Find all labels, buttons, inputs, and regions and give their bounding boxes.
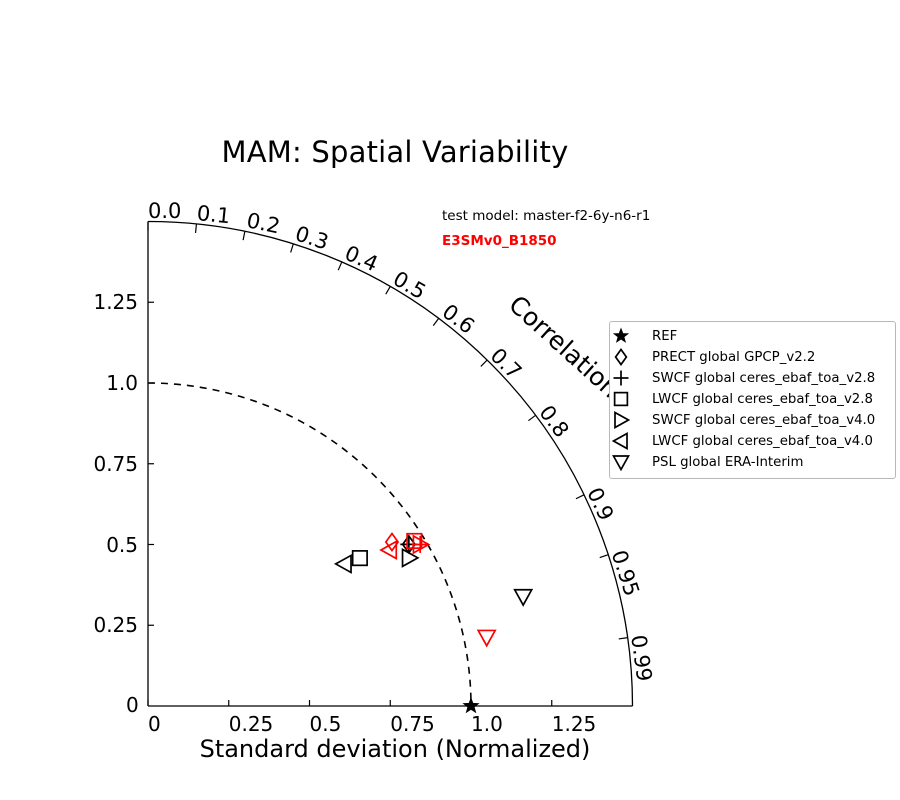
square-marker	[615, 393, 628, 406]
outer-arc	[148, 222, 633, 707]
legend-box[interactable]: REFPRECT global GPCP_v2.2SWCF global cer…	[609, 321, 896, 479]
correlation-tick	[243, 231, 245, 240]
legend-item[interactable]: LWCF global ceres_ebaf_toa_v4.0	[610, 431, 895, 452]
origin-tick-label: 0	[126, 693, 139, 717]
correlation-tick-label: 0.1	[196, 201, 232, 228]
star-marker	[614, 329, 628, 342]
plus-marker	[614, 371, 629, 386]
data-point-triangle-left-marker	[336, 555, 351, 572]
legend-item[interactable]: PSL global ERA-Interim	[610, 452, 895, 473]
triangle-right-marker	[615, 413, 629, 428]
reference-point-star-marker	[464, 698, 478, 712]
legend-item[interactable]: PRECT global GPCP_v2.2	[610, 347, 895, 368]
legend-item-label: LWCF global ceres_ebaf_toa_v2.8	[652, 392, 873, 407]
legend-item-label: LWCF global ceres_ebaf_toa_v4.0	[652, 434, 873, 449]
data-point-triangle-down-marker	[515, 590, 532, 605]
y-axis-tick-label: 0.75	[93, 452, 138, 476]
legend-item[interactable]: SWCF global ceres_ebaf_toa_v2.8	[610, 368, 895, 389]
y-axis-tick-label: 1.0	[106, 371, 138, 395]
legend-item[interactable]: SWCF global ceres_ebaf_toa_v4.0	[610, 410, 895, 431]
legend-item[interactable]: LWCF global ceres_ebaf_toa_v2.8	[610, 389, 895, 410]
y-axis-tick-label: 1.25	[93, 290, 138, 314]
correlation-tick	[291, 244, 294, 253]
legend-item-label: PSL global ERA-Interim	[652, 455, 803, 470]
correlation-tick-label: 0.0	[148, 199, 181, 223]
data-point-triangle-left-marker	[381, 542, 396, 559]
legend-item[interactable]: REF	[610, 326, 895, 347]
triangle-down-marker	[614, 456, 629, 470]
diamond-marker	[616, 350, 627, 365]
taylor-diagram-figure: MAM: Spatial Variability test model: mas…	[0, 0, 900, 800]
correlation-tick	[433, 318, 438, 325]
x-axis-title: Standard deviation (Normalized)	[0, 735, 790, 763]
correlation-tick	[196, 224, 197, 233]
legend-item-label: REF	[652, 329, 677, 344]
data-point-triangle-down-marker	[478, 630, 495, 645]
legend-item-label: SWCF global ceres_ebaf_toa_v4.0	[652, 413, 875, 428]
data-point-square-marker	[353, 551, 367, 565]
y-axis-tick-label: 0.5	[106, 533, 138, 557]
legend-item-label: SWCF global ceres_ebaf_toa_v2.8	[652, 371, 875, 386]
legend-item-label: PRECT global GPCP_v2.2	[652, 350, 815, 365]
y-axis-tick-label: 0.25	[93, 613, 138, 637]
triangle-left-marker	[614, 434, 628, 449]
